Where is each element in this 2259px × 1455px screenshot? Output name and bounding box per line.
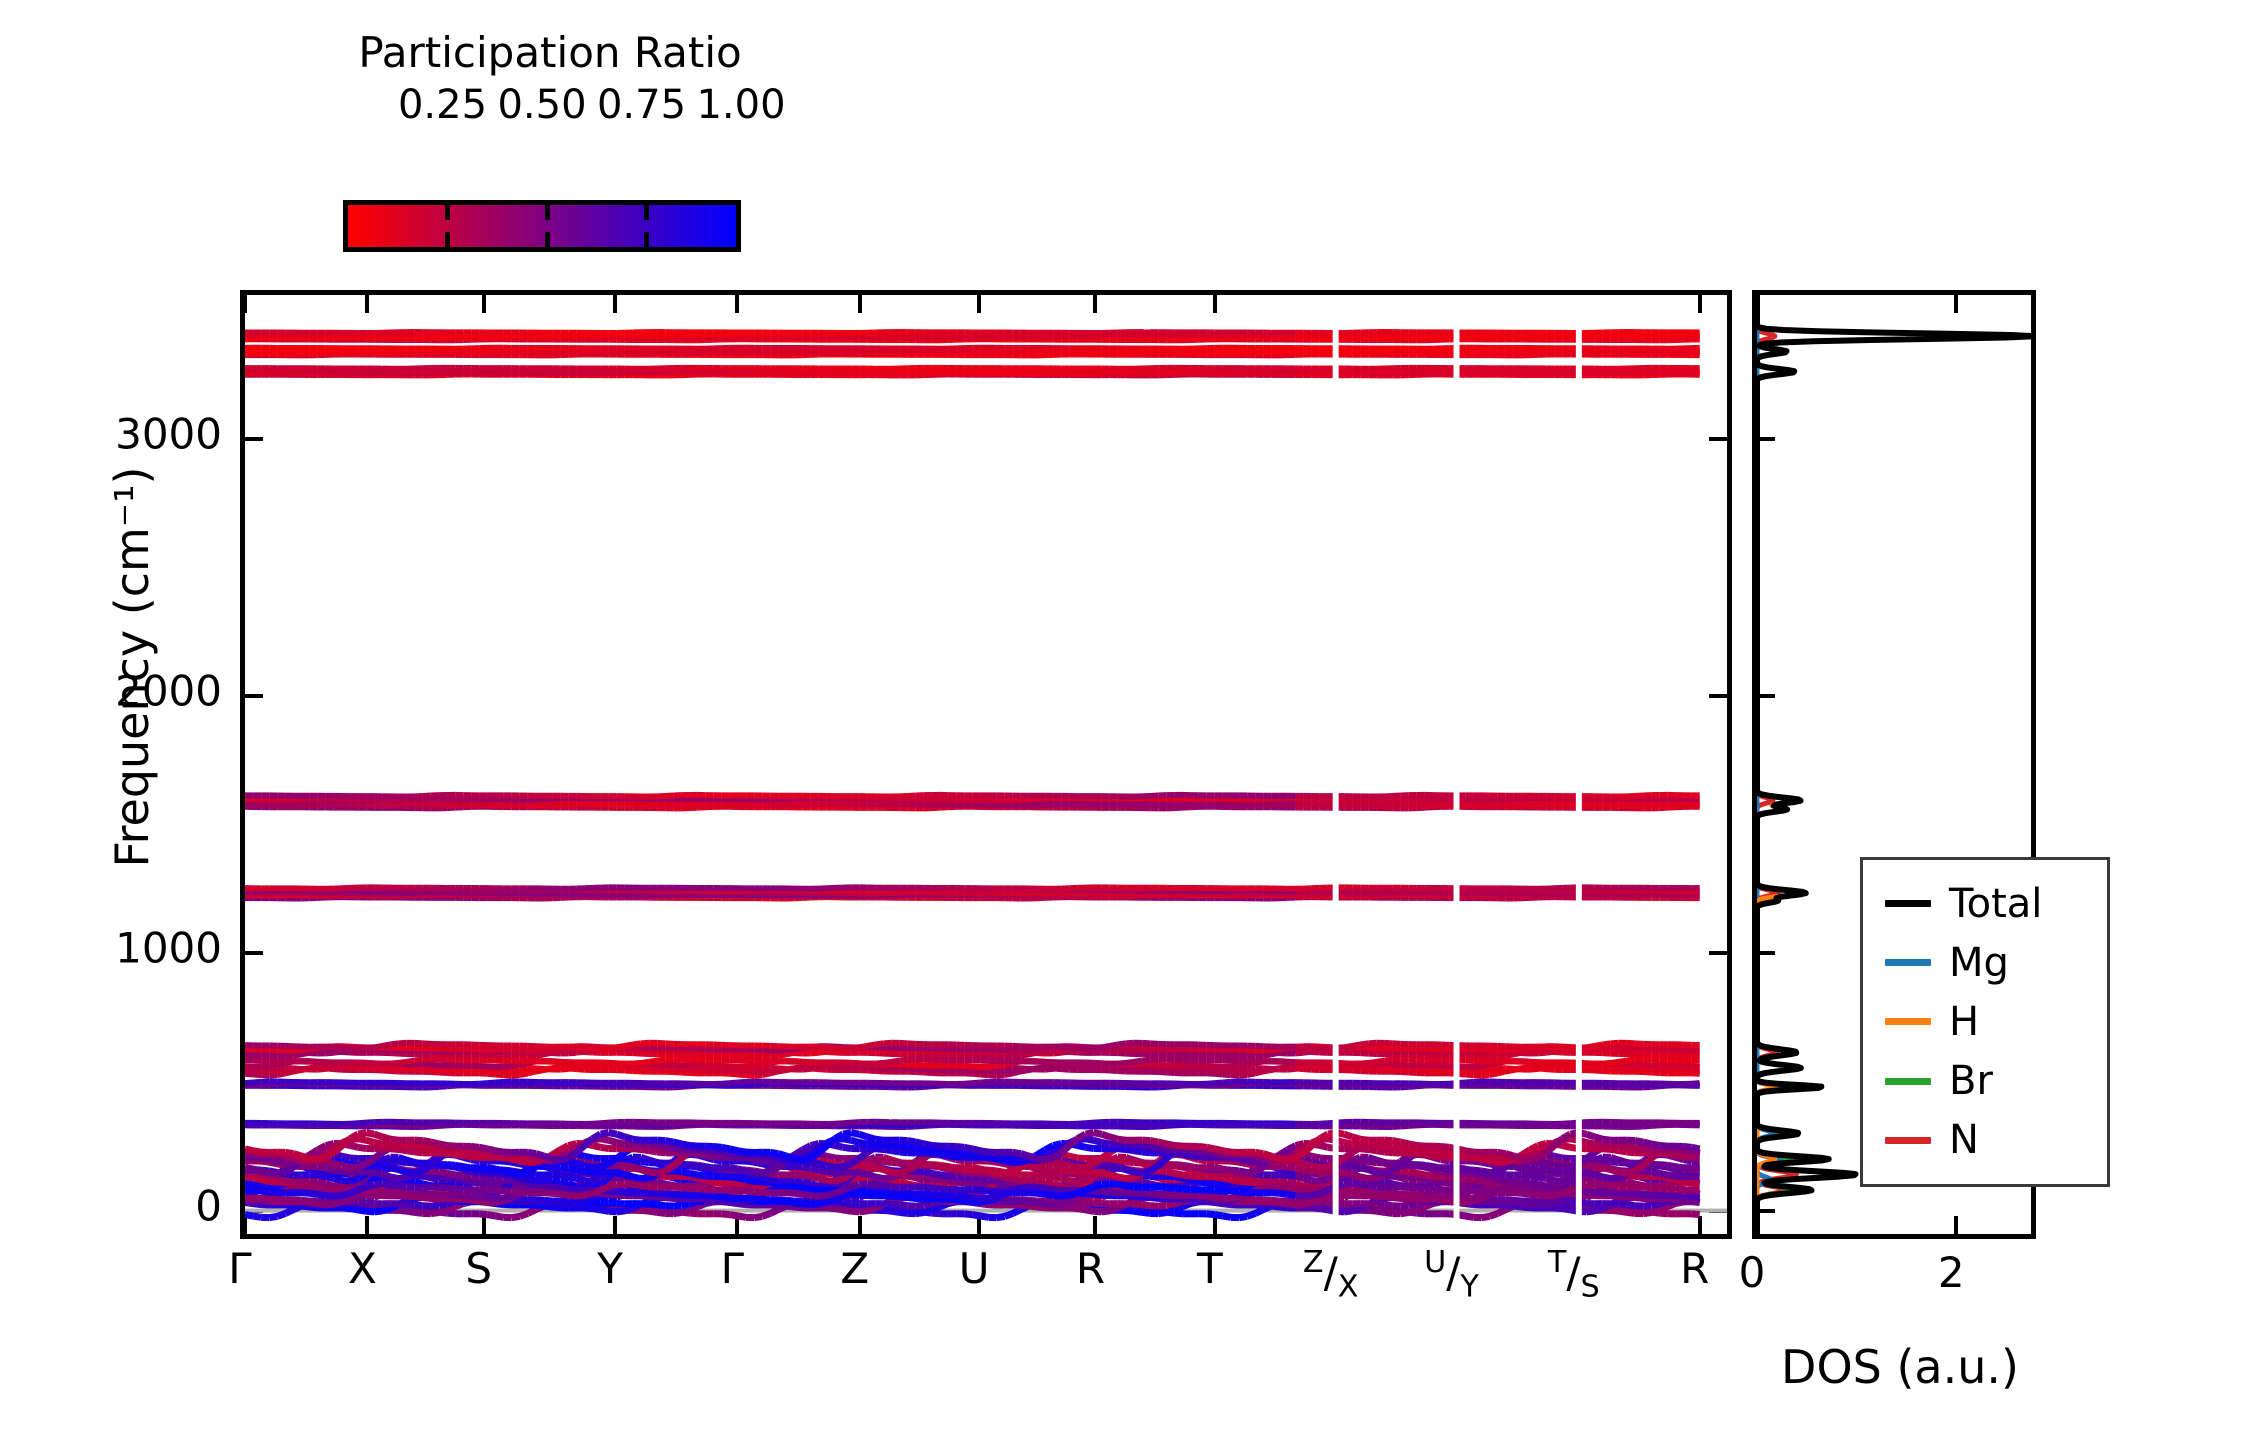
legend-label: N [1949, 1120, 1979, 1160]
y-axis-tick-label: 2000 [0, 667, 222, 716]
participation-ratio-colorbar [343, 200, 741, 252]
legend-label: Total [1949, 884, 2042, 924]
legend-swatch-br [1885, 1078, 1931, 1085]
band-structure-canvas [245, 295, 1727, 1234]
segment-discontinuity [1576, 295, 1582, 1239]
x-axis-tick-label: Z [840, 1248, 869, 1290]
segment-discontinuity [1454, 295, 1460, 1239]
colorbar-tick-label: 0.50 [497, 82, 586, 128]
legend-label: H [1949, 1002, 1979, 1042]
x-axis-tick-label: Z/X [1303, 1248, 1359, 1303]
dos-x-axis-tick-labels: 02 [1752, 1248, 2036, 1308]
legend-item-total[interactable]: Total [1863, 876, 2107, 932]
dos-x-axis-tick-label: 0 [1739, 1248, 1766, 1297]
dos-x-axis-title: DOS (a.u.) [1690, 1340, 2110, 1394]
legend-item-mg[interactable]: Mg [1863, 935, 2107, 991]
dos-series-mg [1757, 295, 1786, 1239]
x-axis-tick-label: Γ [228, 1248, 251, 1290]
dos-series-n [1757, 295, 1796, 1239]
colorbar-tick [545, 205, 550, 220]
legend-item-br[interactable]: Br [1863, 1053, 2107, 1109]
colorbar-tick [644, 232, 649, 247]
legend-label: Br [1949, 1061, 1993, 1101]
colorbar-tick-label: 1.00 [696, 82, 785, 128]
x-axis-tick-label: X [348, 1248, 377, 1290]
legend-swatch-total [1885, 900, 1931, 907]
x-axis-tick-label: S [465, 1248, 492, 1290]
legend-swatch-h [1885, 1018, 1931, 1025]
dos-x-axis-tick [1755, 1216, 1759, 1234]
band-structure-plot[interactable] [240, 290, 1732, 1239]
band-curves [245, 295, 1732, 1239]
x-axis-tick-label: U [959, 1248, 990, 1290]
phonon-band-dos-figure: Participation Ratio 0.250.500.751.00 Fre… [0, 0, 2259, 1455]
dos-legend[interactable]: TotalMgHBrN [1860, 857, 2110, 1187]
legend-item-n[interactable]: N [1863, 1112, 2107, 1168]
legend-swatch-mg [1885, 959, 1931, 966]
dos-x-axis-tick [1954, 1216, 1958, 1234]
y-axis-tick-labels: 0100020003000 [0, 0, 222, 1455]
segment-discontinuity [1333, 295, 1339, 1239]
colorbar-title: Participation Ratio [340, 28, 760, 77]
colorbar-tick [545, 232, 550, 247]
legend-item-h[interactable]: H [1863, 994, 2107, 1050]
y-axis-tick-label: 1000 [0, 924, 222, 973]
dos-x-axis-tick-label: 2 [1938, 1248, 1965, 1297]
x-axis-tick-label: R [1680, 1248, 1709, 1290]
legend-swatch-n [1885, 1137, 1931, 1144]
dos-series-br [1757, 295, 1836, 1239]
dos-x-axis-tick [1755, 295, 1759, 313]
colorbar-tick [445, 232, 450, 247]
y-axis-tick-label: 3000 [0, 410, 222, 459]
x-axis-tick-label: U/Y [1424, 1248, 1479, 1303]
x-axis-tick-label: T/S [1548, 1248, 1600, 1303]
dos-x-axis-tick [1954, 295, 1958, 313]
colorbar-tick [445, 205, 450, 220]
colorbar-tick-labels: 0.250.500.751.00 [343, 82, 741, 132]
legend-label: Mg [1949, 943, 2009, 983]
band-x-axis-tick-labels: ΓXSYΓZURTZ/XU/YT/SR [240, 1248, 1732, 1338]
x-axis-tick-label: Y [597, 1248, 623, 1290]
x-axis-tick-label: R [1076, 1248, 1105, 1290]
colorbar-tick-label: 0.75 [597, 82, 686, 128]
y-axis-tick-label: 0 [0, 1181, 222, 1230]
x-axis-tick-label: T [1197, 1248, 1223, 1290]
colorbar-tick [644, 205, 649, 220]
x-axis-tick-label: Γ [721, 1248, 744, 1290]
colorbar-tick-label: 0.25 [398, 82, 487, 128]
